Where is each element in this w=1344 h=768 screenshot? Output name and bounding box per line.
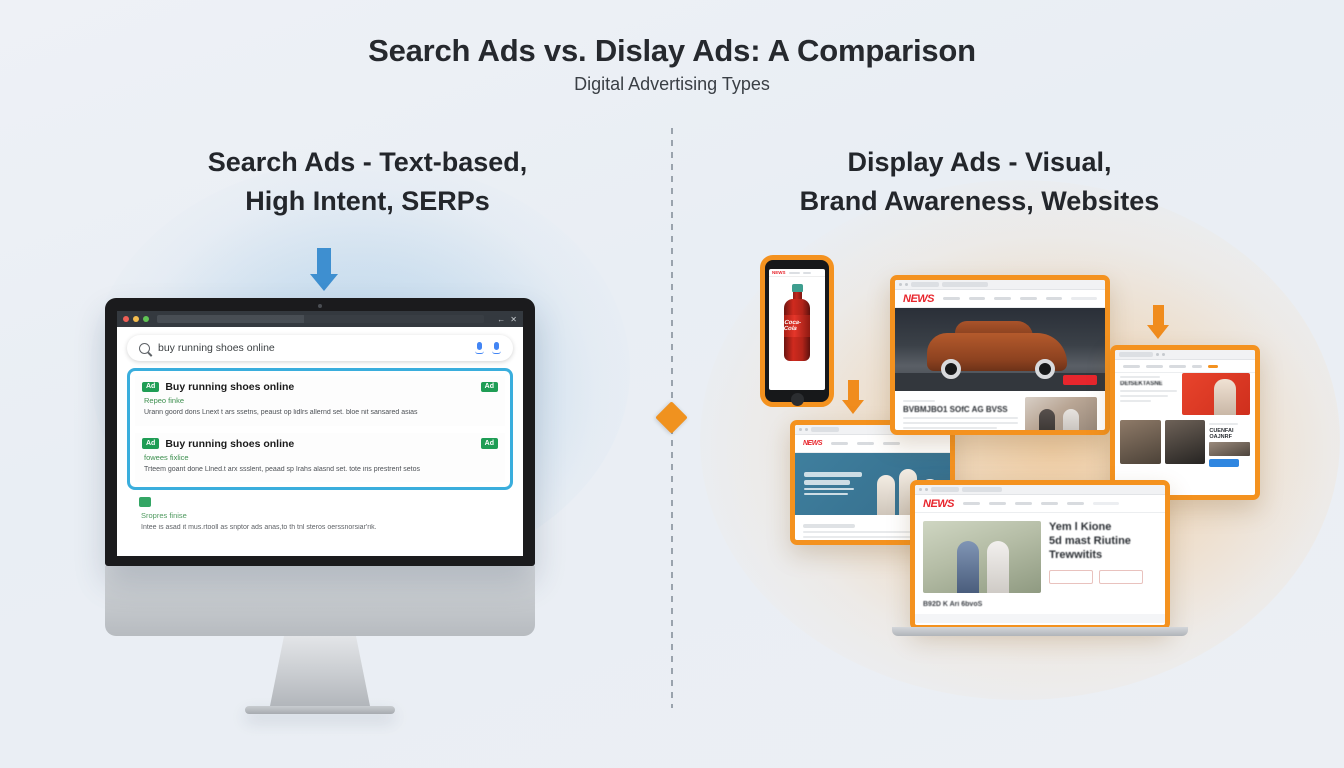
ad-result-title[interactable]: Buy running shoes online (165, 381, 474, 393)
coca-cola-wordmark: Coca-Cola (783, 320, 810, 332)
nav-cta-button[interactable] (1071, 297, 1097, 300)
page-title: Search Ads vs. Dislay Ads: A Comparison (0, 33, 1344, 69)
nav-link[interactable] (1041, 502, 1058, 505)
maximize-window-dot[interactable] (143, 316, 149, 322)
back-arrow-icon[interactable]: ← (497, 315, 505, 324)
laptop-site-navbar: NEWS (915, 495, 1165, 513)
nav-link[interactable] (943, 297, 960, 300)
magazine-navbar (1115, 360, 1255, 373)
monitor-screen: ← ✕ buy running shoes online (117, 311, 523, 556)
nav-link[interactable] (789, 272, 800, 274)
arrow-down-icon-left (310, 248, 338, 291)
news-site-navbar: NEWS (895, 290, 1105, 308)
organic-result-title[interactable] (157, 496, 501, 508)
nav-link[interactable] (831, 442, 848, 445)
magazine-tile[interactable] (1165, 420, 1206, 464)
news-article-headline: BVBMJBO1 SOfC AG BVSS (903, 405, 1018, 414)
window-traffic-lights[interactable] (123, 316, 149, 322)
magazine-headline: DEfSEKTASNE (1120, 381, 1177, 387)
organic-result-header (139, 496, 501, 508)
nav-link[interactable] (883, 442, 900, 445)
monitor-base (245, 706, 395, 714)
device-tablet-magazine[interactable]: DEfSEKTASNE CUENFAI OAJNRF (1110, 345, 1260, 500)
search-results-page: buy running shoes online Ad Buy running … (117, 327, 523, 556)
tablet-window-bar (1115, 350, 1255, 360)
nav-cta-button[interactable] (1093, 502, 1119, 505)
ad-badge-right: Ad (481, 382, 498, 393)
site-brand-logo: NEWS (803, 440, 822, 447)
nav-link[interactable] (1192, 365, 1202, 368)
ad-result-header: Ad Buy running shoes online Ad (142, 438, 498, 450)
tablet-hero-headline (804, 469, 862, 498)
news-article-thumbnail (1025, 397, 1097, 435)
site-brand-logo: NEWS (923, 498, 954, 510)
browser-url-bar[interactable] (157, 315, 484, 323)
ad-result-url: fowees fixlice (144, 453, 498, 462)
nav-link[interactable] (857, 442, 874, 445)
search-input[interactable]: buy running shoes online (158, 342, 467, 354)
news-hero-image-suv (895, 308, 1105, 391)
nav-link[interactable] (1146, 365, 1163, 368)
laptop-cta-secondary[interactable] (1099, 570, 1143, 584)
device-laptop-news-site[interactable]: NEWS Yem l Kione5d mast RiutineTrewwitit… (910, 480, 1170, 630)
magazine-tile[interactable] (1120, 420, 1161, 464)
coca-cola-bottle-ad: Coca-Cola (783, 284, 811, 366)
left-column-heading: Search Ads - Text-based, High Intent, SE… (60, 143, 675, 221)
nav-link[interactable] (963, 502, 980, 505)
browser-window-bar (895, 280, 1105, 290)
hero-cta-button[interactable] (1063, 375, 1097, 385)
phone-screen: NEWS Coca-Cola (769, 269, 825, 390)
ad-result-description: Trteem goant done Llned.t arx ssslent, p… (144, 465, 498, 476)
ad-result-url: Repeo finke (144, 396, 498, 405)
ad-badge-left (139, 497, 151, 508)
tablet-site-navbar: NEWS (795, 435, 950, 453)
close-icon[interactable]: ✕ (510, 315, 517, 324)
laptop-caption: B92D K Ari 6bvoS (915, 601, 1165, 608)
device-smartphone-ad[interactable]: NEWS Coca-Cola (760, 255, 834, 407)
nav-link[interactable] (1169, 365, 1186, 368)
ad-badge-left: Ad (142, 438, 159, 449)
right-heading-line-1: Display Ads - Visual, (847, 147, 1111, 177)
left-heading-line-1: Search Ads - Text-based, (208, 147, 528, 177)
nav-link[interactable] (994, 297, 1011, 300)
nav-link[interactable] (1020, 297, 1037, 300)
lens-icon[interactable] (492, 342, 501, 355)
site-brand-logo: NEWS (903, 293, 934, 305)
coca-cola-label: Coca-Cola (784, 315, 810, 337)
news-article-section: BVBMJBO1 SOfC AG BVSS (895, 391, 1105, 435)
organic-result-row[interactable]: Sropres finise Intee is asad it mus.rtoo… (127, 494, 513, 534)
laptop-window-bar (915, 485, 1165, 495)
ad-badge-left: Ad (142, 382, 159, 393)
nav-link[interactable] (1067, 502, 1084, 505)
nav-link[interactable] (1015, 502, 1032, 505)
right-column-heading: Display Ads - Visual, Brand Awareness, W… (672, 143, 1287, 221)
laptop-base (892, 627, 1188, 636)
right-heading-line-2: Brand Awareness, Websites (800, 186, 1160, 216)
monitor-bezel: ← ✕ buy running shoes online (105, 298, 535, 566)
page-subtitle: Digital Advertising Types (0, 74, 1344, 95)
left-heading-line-2: High Intent, SERPs (245, 186, 490, 216)
webcam-icon (318, 304, 322, 308)
magazine-tile-grid: CUENFAI OAJNRF (1115, 420, 1255, 464)
search-icon (139, 343, 150, 354)
search-bar[interactable]: buy running shoes online (127, 335, 513, 361)
laptop-cta-group (1049, 570, 1157, 584)
phone-site-bar: NEWS (769, 269, 825, 277)
ad-result-header: Ad Buy running shoes online Ad (142, 381, 498, 393)
desktop-monitor: ← ✕ buy running shoes online (105, 298, 535, 714)
ad-result-row[interactable]: Ad Buy running shoes online Ad Repeo fin… (135, 376, 505, 426)
magazine-tile[interactable]: CUENFAI OAJNRF (1209, 420, 1250, 464)
laptop-hero-headline: Yem l Kione5d mast RiutineTrewwitits (1049, 521, 1157, 562)
magazine-cta-button[interactable] (1209, 459, 1239, 467)
phone-home-button-icon[interactable] (791, 393, 804, 406)
organic-result-description: Intee is asad it mus.rtooll as snptor ad… (141, 523, 501, 534)
browser-chrome: ← ✕ (117, 311, 523, 327)
ad-result-row[interactable]: Ad Buy running shoes online Ad fowees fi… (135, 433, 505, 483)
sponsored-ads-highlight-box: Ad Buy running shoes online Ad Repeo fin… (127, 368, 513, 490)
magazine-tile-headline: CUENFAI OAJNRF (1209, 428, 1250, 440)
nav-link[interactable] (1123, 365, 1140, 368)
monitor-stand (270, 636, 370, 706)
minimize-window-dot[interactable] (133, 316, 139, 322)
display-ads-device-cluster: NEWS NEWS (760, 255, 1300, 705)
ad-result-description: Urann goord dons Lnext t ars ssetns, pea… (144, 408, 498, 419)
site-brand-logo: NEWS (772, 270, 786, 275)
microphone-icon[interactable] (475, 342, 484, 355)
laptop-footer-strip (915, 614, 1165, 623)
ad-result-title[interactable]: Buy running shoes online (165, 438, 474, 450)
nav-link-active[interactable] (1208, 365, 1218, 368)
monitor-chin (105, 566, 535, 636)
nav-link[interactable] (1046, 297, 1063, 300)
nav-link[interactable] (803, 272, 811, 274)
magazine-hero-banner (1182, 373, 1250, 415)
device-desktop-news-site[interactable]: NEWS BVBMJBO1 SOfC AG BVSS (890, 275, 1110, 435)
divider-diamond-marker (655, 401, 688, 434)
laptop-hero-image (923, 521, 1041, 593)
ad-badge-right: Ad (481, 438, 498, 449)
laptop-hero-section: Yem l Kione5d mast RiutineTrewwitits (915, 513, 1165, 601)
nav-link[interactable] (969, 297, 986, 300)
close-window-dot[interactable] (123, 316, 129, 322)
organic-result-url: Sropres finise (141, 511, 501, 520)
laptop-cta-primary[interactable] (1049, 570, 1093, 584)
nav-link[interactable] (989, 502, 1006, 505)
